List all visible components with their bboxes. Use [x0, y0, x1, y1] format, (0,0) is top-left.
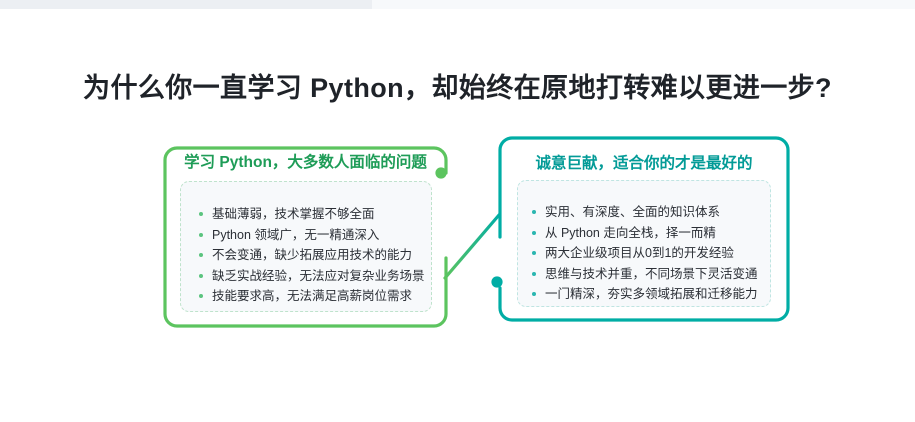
- list-item-label: 两大企业级项目从0到1的开发经验: [545, 246, 734, 260]
- list-item: 两大企业级项目从0到1的开发经验: [532, 243, 758, 264]
- top-decorative-band-light: [372, 0, 915, 9]
- bullet-dot-icon: [532, 231, 536, 235]
- card-solution-list: 实用、有深度、全面的知识体系 从 Python 走向全栈，择一而精 两大企业级项…: [532, 202, 758, 305]
- list-item-label: Python 领域广，无一精通深入: [212, 228, 379, 242]
- list-item: 缺乏实战经验，无法应对复杂业务场景: [199, 266, 425, 287]
- bullet-dot-icon: [199, 233, 203, 237]
- card-problems: 学习 Python，大多数人面临的问题 基础薄弱，技术掌握不够全面 Python…: [163, 133, 448, 329]
- list-item-label: 从 Python 走向全栈，择一而精: [545, 226, 716, 240]
- list-item: 从 Python 走向全栈，择一而精: [532, 223, 758, 244]
- top-decorative-band: [0, 0, 372, 9]
- bullet-dot-icon: [532, 251, 536, 255]
- list-item-label: 技能要求高，无法满足高薪岗位需求: [212, 289, 412, 303]
- list-item: 不会变通，缺少拓展应用技术的能力: [199, 245, 425, 266]
- card-problems-heading: 学习 Python，大多数人面临的问题: [163, 150, 448, 172]
- bullet-dot-icon: [532, 292, 536, 296]
- list-item: 一门精深，夯实多领域拓展和迁移能力: [532, 284, 758, 305]
- bullet-dot-icon: [199, 253, 203, 257]
- connector-diagonal: [445, 215, 499, 278]
- list-item: 思维与技术并重，不同场景下灵活变通: [532, 264, 758, 285]
- list-item-label: 思维与技术并重，不同场景下灵活变通: [545, 267, 758, 281]
- list-item-label: 基础薄弱，技术掌握不够全面: [212, 207, 375, 221]
- bullet-dot-icon: [199, 294, 203, 298]
- list-item-label: 一门精深，夯实多领域拓展和迁移能力: [545, 287, 758, 301]
- list-item: 基础薄弱，技术掌握不够全面: [199, 204, 425, 225]
- card-solution: 诚意巨献，适合你的才是最好的 实用、有深度、全面的知识体系 从 Python 走…: [498, 136, 790, 323]
- bullet-dot-icon: [532, 210, 536, 214]
- bullet-dot-icon: [532, 272, 536, 276]
- list-item: 实用、有深度、全面的知识体系: [532, 202, 758, 223]
- card-solution-heading: 诚意巨献，适合你的才是最好的: [498, 151, 790, 173]
- list-item-label: 缺乏实战经验，无法应对复杂业务场景: [212, 269, 425, 283]
- card-problems-list: 基础薄弱，技术掌握不够全面 Python 领域广，无一精通深入 不会变通，缺少拓…: [199, 204, 425, 307]
- list-item: 技能要求高，无法满足高薪岗位需求: [199, 286, 425, 307]
- list-item-label: 实用、有深度、全面的知识体系: [545, 205, 720, 219]
- bullet-dot-icon: [199, 212, 203, 216]
- list-item-label: 不会变通，缺少拓展应用技术的能力: [212, 248, 412, 262]
- list-item: Python 领域广，无一精通深入: [199, 225, 425, 246]
- bullet-dot-icon: [199, 274, 203, 278]
- page-title: 为什么你一直学习 Python，却始终在原地打转难以更进一步?: [0, 66, 915, 105]
